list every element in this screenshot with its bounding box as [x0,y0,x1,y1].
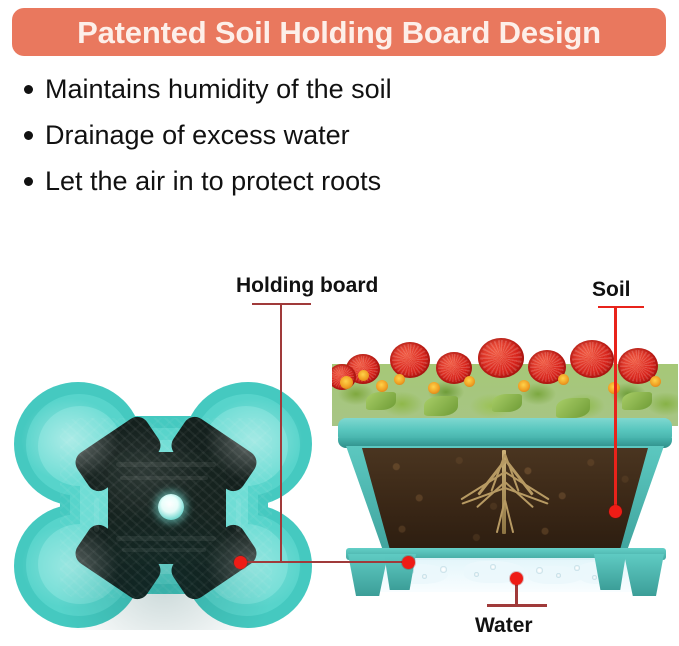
holding-board-leader-vertical [280,303,282,562]
annotation-label-soil: Soil [592,278,631,302]
holding-board-marker-right [402,556,415,569]
list-item: Let the air in to protect roots [24,164,644,210]
header-banner: Patented Soil Holding Board Design [12,8,666,56]
list-item: Drainage of excess water [24,118,644,164]
soil-layer [362,448,648,552]
water-marker [510,572,523,585]
bullet-dot-icon [24,177,33,186]
soil-leader-cap [598,306,644,308]
feature-text: Drainage of excess water [45,118,350,152]
feature-text: Maintains humidity of the soil [45,72,392,106]
infographic-page: Patented Soil Holding Board Design Maint… [0,0,679,646]
feature-text: Let the air in to protect roots [45,164,381,198]
feature-list: Maintains humidity of the soil Drainage … [24,72,644,210]
water-reservoir [378,558,632,592]
flower-cluster [332,330,678,426]
page-title: Patented Soil Holding Board Design [77,17,601,48]
drainage-hole-icon [158,494,184,520]
bullet-dot-icon [24,131,33,140]
annotation-label-water: Water [475,614,533,638]
planter-top-view-photo [8,378,320,630]
list-item: Maintains humidity of the soil [24,72,644,118]
water-leader-vertical [515,583,518,606]
bullet-dot-icon [24,85,33,94]
holding-board-leader-horizontal [240,561,412,563]
soil-marker [609,505,622,518]
holding-board-marker-left [234,556,247,569]
annotation-label-holding-board: Holding board [236,274,378,298]
soil-leader-vertical [614,306,617,512]
soil-holding-board-insert [60,418,272,598]
